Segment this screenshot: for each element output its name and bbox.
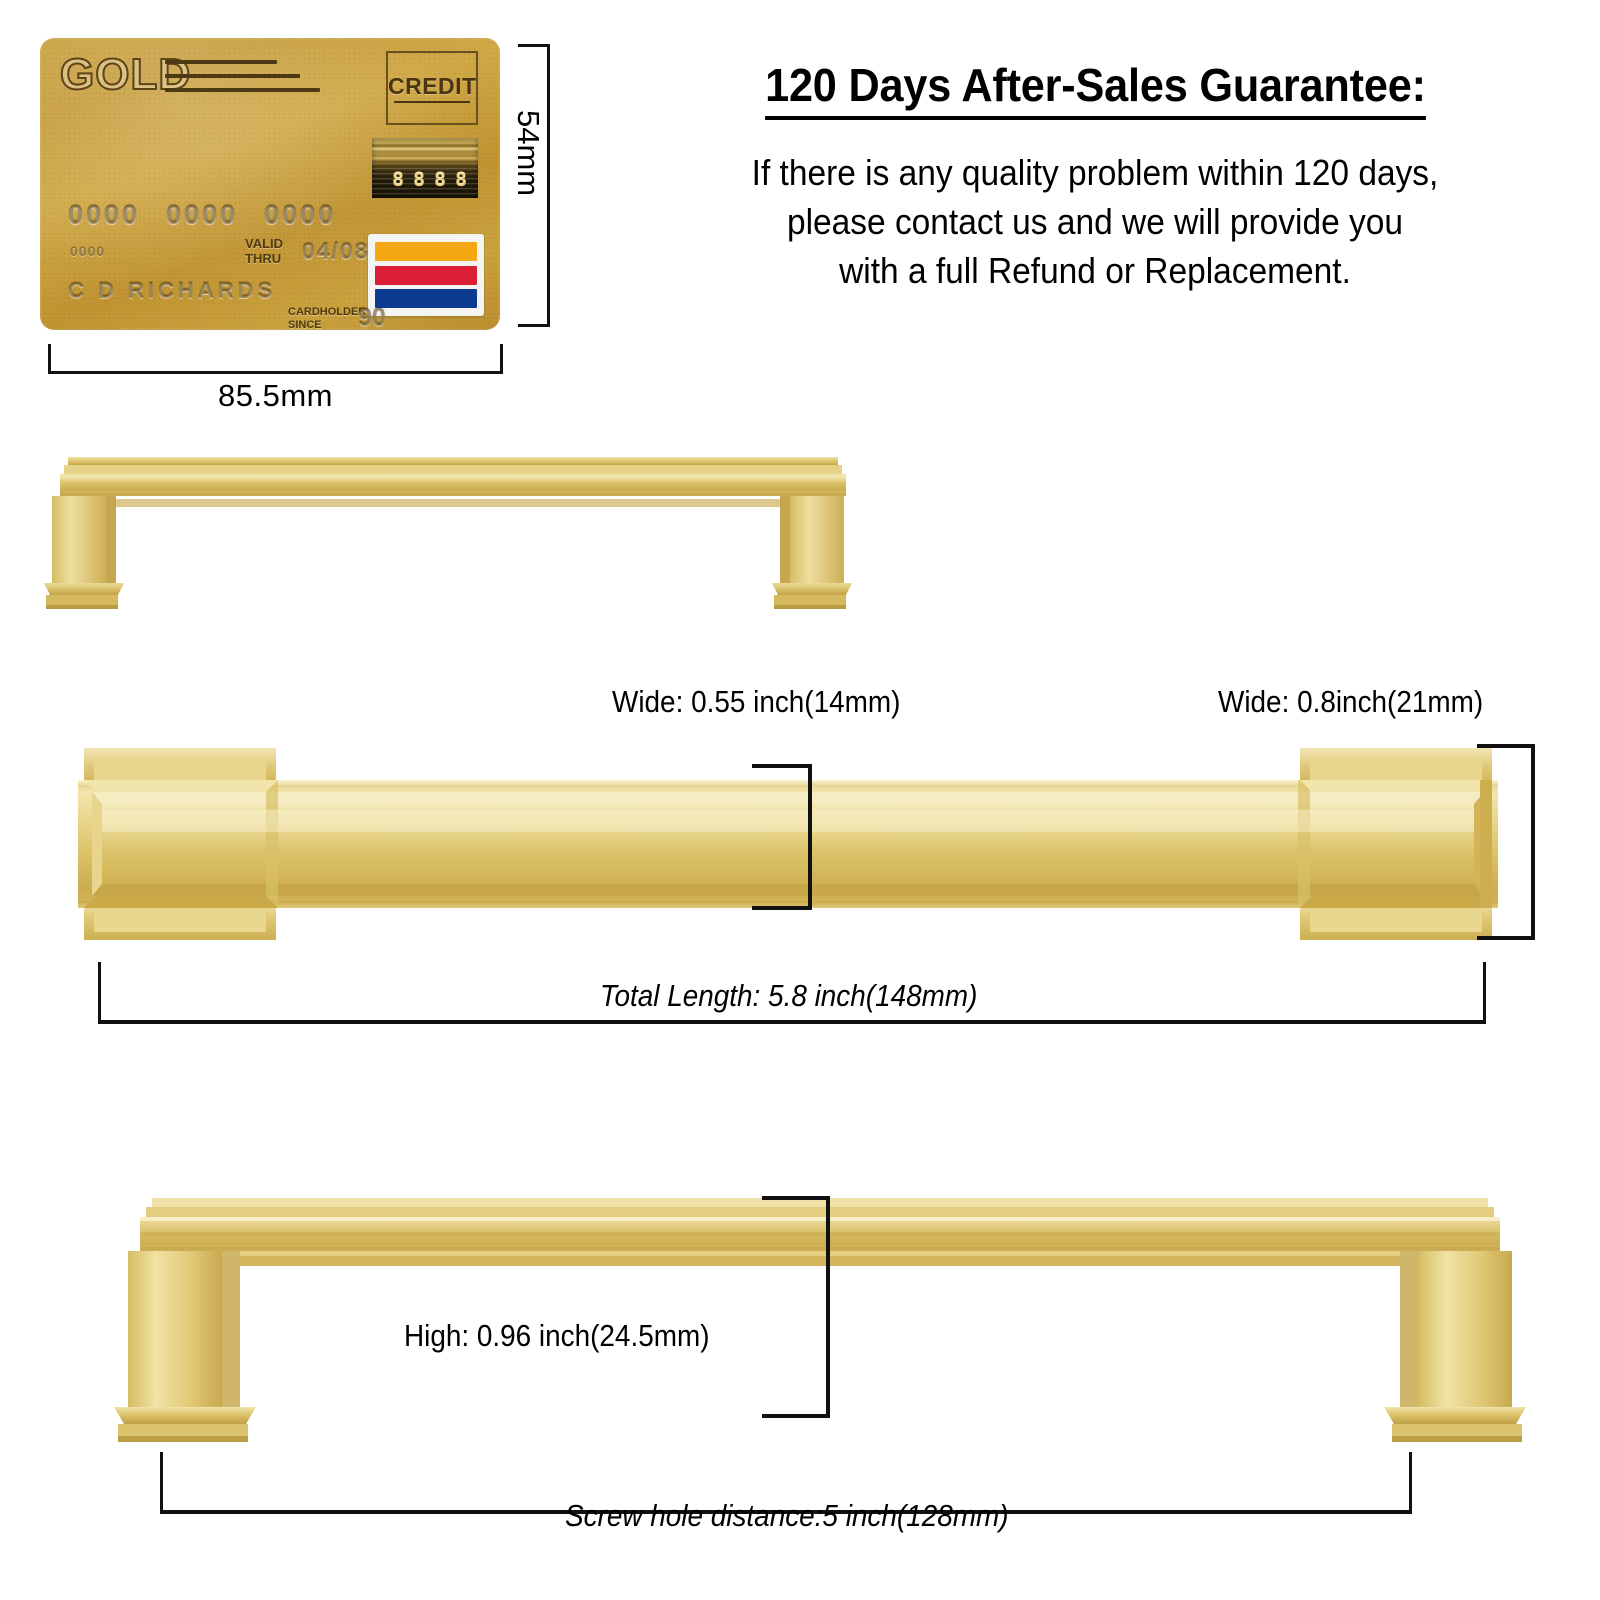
card-valid-thru-label: VALID THRU (245, 236, 283, 266)
height-label: High: 0.96 inch(24.5mm) (404, 1318, 709, 1354)
valid-line-2: THRU (245, 251, 283, 266)
guarantee-line: with a full Refund or Replacement. (653, 246, 1537, 295)
guarantee-line: please contact us and we will provide yo… (653, 197, 1537, 246)
card-number-row: 0000 0000 0000 (68, 200, 336, 231)
flag-band-amber (375, 242, 477, 261)
infographic-canvas: GOLD CREDIT 8 8 8 8 0000 0000 0000 0000 … (0, 0, 1600, 1600)
holo-digit: 8 (452, 170, 470, 192)
card-credit-box: CREDIT (386, 51, 478, 125)
end-width-label: Wide: 0.8inch(21mm) (1218, 684, 1483, 720)
bar-width-dimension-bracket (752, 764, 812, 910)
height-dimension-bracket (762, 1196, 830, 1418)
valid-line-1: VALID (245, 236, 283, 251)
card-since-label: CARDHOLDER SINCE (288, 306, 366, 330)
guarantee-title: 120 Days After-Sales Guarantee: (765, 58, 1426, 120)
flag-band-red (375, 266, 477, 285)
total-length-label: Total Length: 5.8 inch(148mm) (600, 978, 977, 1014)
bar-width-label: Wide: 0.55 inch(14mm) (612, 684, 900, 720)
card-number-group: 0000 (264, 200, 336, 231)
guarantee-body: If there is any quality problem within 1… (653, 148, 1537, 295)
card-credit-label: CREDIT (388, 73, 476, 100)
card-height-label: 54mm (510, 110, 546, 196)
holo-digit: 8 (389, 170, 407, 192)
holo-digit: 8 (410, 170, 428, 192)
card-since-year: 90 (358, 304, 386, 330)
flag-band-blue (375, 289, 477, 308)
holo-digit: 8 (431, 170, 449, 192)
guarantee-block: 120 Days After-Sales Guarantee: If there… (620, 58, 1570, 295)
screw-hole-distance-label: Screw hole distance:5 inch(128mm) (565, 1498, 1009, 1534)
card-width-bracket (48, 344, 503, 374)
card-hologram-digits: 8 8 8 8 (389, 170, 470, 192)
card-width-label: 85.5mm (48, 378, 503, 414)
card-number-group: 0000 (68, 200, 140, 231)
card-number-small: 0000 (70, 243, 105, 259)
card-number-group: 0000 (166, 200, 238, 231)
handle-side-profile-view-small (38, 445, 868, 615)
card-expiry-date: 04/08 (302, 238, 370, 265)
since-line-2: SINCE (288, 319, 366, 330)
guarantee-line: If there is any quality problem within 1… (653, 148, 1537, 197)
card-holder-name: C D RICHARDS (68, 278, 276, 304)
credit-card-scale-reference: GOLD CREDIT 8 8 8 8 0000 0000 0000 0000 … (40, 38, 500, 330)
since-line-1: CARDHOLDER (288, 306, 366, 319)
card-brand-rules (165, 58, 345, 100)
end-width-dimension-bracket (1477, 744, 1535, 940)
